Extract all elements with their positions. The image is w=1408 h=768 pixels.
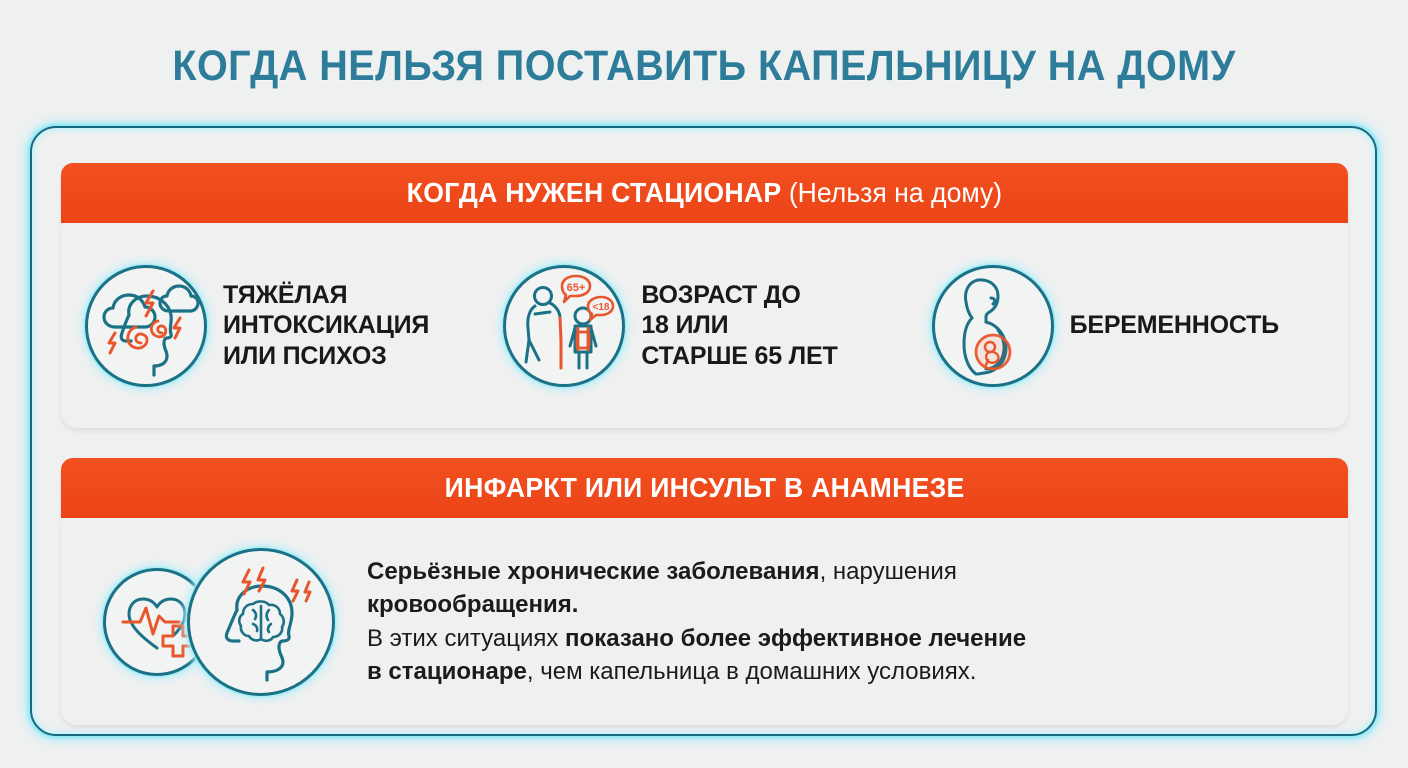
label-line: ИНТОКСИКАЦИЯ (223, 310, 429, 341)
item-age-label: ВОЗРАСТ ДО 18 ИЛИ СТАРШЕ 65 ЛЕТ (641, 280, 837, 372)
section-1-header-bar: КОГДА НУЖЕН СТАЦИОНАР (Нельзя на дому) (61, 163, 1348, 223)
section-2-paragraph: Серьёзные хронические заболевания, наруш… (367, 555, 1026, 687)
label-line: БЕРЕМЕННОСТЬ (1070, 310, 1279, 341)
paragraph-bold: Серьёзные хронические заболевания (367, 558, 820, 585)
head-brain-lightning-icon (187, 548, 335, 696)
paragraph-bold: в стационаре (367, 658, 527, 685)
section-2-icon-group (95, 547, 335, 697)
section-heart-attack-stroke: ИНФАРКТ ИЛИ ИНСУЛЬТ В АНАМНЕЗЕ (61, 458, 1348, 725)
section-hospital-required: КОГДА НУЖЕН СТАЦИОНАР (Нельзя на дому) (61, 163, 1348, 428)
paragraph-line-2: кровообращения. (367, 588, 1026, 621)
label-line: ТЯЖЁЛАЯ (223, 280, 429, 311)
section-1-header-sub: (Нельзя на дому) (782, 177, 1003, 208)
item-age: 65+ <18 ВОЗРАСТ ДО 18 ИЛИ СТАРШЕ 65 ЛЕТ (503, 265, 931, 387)
paragraph-bold: кровообращения. (367, 591, 578, 618)
paragraph-text: , нарушения (820, 558, 957, 585)
item-pregnancy-label: БЕРЕМЕННОСТЬ (1070, 310, 1279, 341)
item-intoxication: ТЯЖЁЛАЯ ИНТОКСИКАЦИЯ ИЛИ ПСИХОЗ (85, 265, 503, 387)
section-1-header-main: КОГДА НУЖЕН СТАЦИОНАР (407, 177, 782, 208)
badge-65-plus: 65+ (567, 282, 586, 294)
badge-under-18: <18 (593, 302, 610, 313)
item-intoxication-label: ТЯЖЁЛАЯ ИНТОКСИКАЦИЯ ИЛИ ПСИХОЗ (223, 280, 429, 372)
paragraph-line-4: в стационаре, чем капельница в домашних … (367, 655, 1026, 688)
page-title: КОГДА НЕЛЬЗЯ ПОСТАВИТЬ КАПЕЛЬНИЦУ НА ДОМ… (56, 42, 1351, 91)
paragraph-text: , чем капельница в домашних условиях. (527, 658, 977, 685)
section-2-header-main: ИНФАРКТ ИЛИ ИНСУЛЬТ В АНАМНЕЗЕ (445, 472, 965, 503)
paragraph-bold: показано более эффективное лечение (565, 625, 1026, 652)
label-line: ИЛИ ПСИХОЗ (223, 341, 429, 372)
label-line: ВОЗРАСТ ДО (641, 280, 837, 311)
section-2-header-text: ИНФАРКТ ИЛИ ИНСУЛЬТ В АНАМНЕЗЕ (445, 472, 965, 504)
section-1-panel: ТЯЖЁЛАЯ ИНТОКСИКАЦИЯ ИЛИ ПСИХОЗ (61, 223, 1348, 428)
elderly-and-child-icon: 65+ <18 (503, 265, 625, 387)
section-1-header-text: КОГДА НУЖЕН СТАЦИОНАР (Нельзя на дому) (407, 177, 1002, 209)
section-2-header-bar: ИНФАРКТ ИЛИ ИНСУЛЬТ В АНАМНЕЗЕ (61, 458, 1348, 518)
head-storm-clouds-icon (85, 265, 207, 387)
label-line: СТАРШЕ 65 ЛЕТ (641, 341, 837, 372)
paragraph-line-3: В этих ситуациях показано более эффектив… (367, 622, 1026, 655)
paragraph-line-1: Серьёзные хронические заболевания, наруш… (367, 555, 1026, 588)
pregnant-woman-icon (932, 265, 1054, 387)
paragraph-text: В этих ситуациях (367, 625, 565, 652)
section-2-panel: Серьёзные хронические заболевания, наруш… (61, 518, 1348, 725)
label-line: 18 ИЛИ (641, 310, 837, 341)
item-pregnancy: БЕРЕМЕННОСТЬ (932, 265, 1330, 387)
